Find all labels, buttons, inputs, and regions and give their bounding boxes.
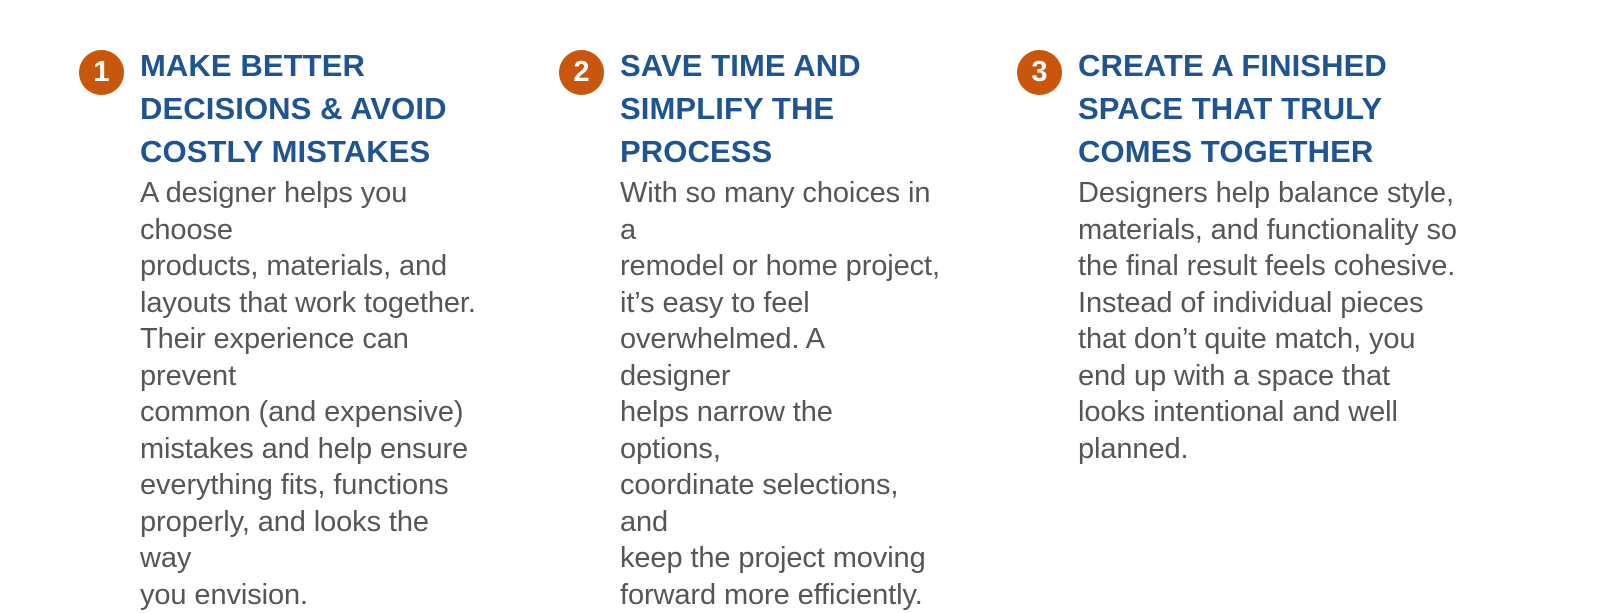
benefit-title-2: SAVE TIME AND SIMPLIFY THE PROCESS bbox=[620, 44, 940, 173]
benefit-content-3: CREATE A FINISHED SPACE THAT TRULY COMES… bbox=[1017, 44, 1500, 467]
benefit-content-2: SAVE TIME AND SIMPLIFY THE PROCESS With … bbox=[559, 44, 940, 613]
benefits-board: 1 MAKE BETTER DECISIONS & AVOID COSTLY M… bbox=[0, 0, 1613, 581]
benefit-title-3: CREATE A FINISHED SPACE THAT TRULY COMES… bbox=[1078, 44, 1500, 173]
benefit-text-3: Designers help balance style, materials,… bbox=[1078, 173, 1500, 467]
benefit-title-1: MAKE BETTER DECISIONS & AVOID COSTLY MIS… bbox=[140, 44, 480, 173]
benefit-content-1: MAKE BETTER DECISIONS & AVOID COSTLY MIS… bbox=[79, 44, 480, 613]
benefits-columns: 1 MAKE BETTER DECISIONS & AVOID COSTLY M… bbox=[0, 0, 1613, 613]
benefit-column-1: 1 MAKE BETTER DECISIONS & AVOID COSTLY M… bbox=[0, 44, 480, 613]
benefit-column-2: 2 SAVE TIME AND SIMPLIFY THE PROCESS Wit… bbox=[480, 44, 940, 613]
benefit-number-badge-2: 2 bbox=[559, 50, 604, 95]
benefit-number-badge-3: 3 bbox=[1017, 50, 1062, 95]
benefit-number-badge-1: 1 bbox=[79, 50, 124, 95]
benefit-text-1: A designer helps you choose products, ma… bbox=[140, 173, 480, 613]
benefit-text-2: With so many choices in a remodel or hom… bbox=[620, 173, 940, 613]
benefit-column-3: 3 CREATE A FINISHED SPACE THAT TRULY COM… bbox=[940, 44, 1500, 467]
